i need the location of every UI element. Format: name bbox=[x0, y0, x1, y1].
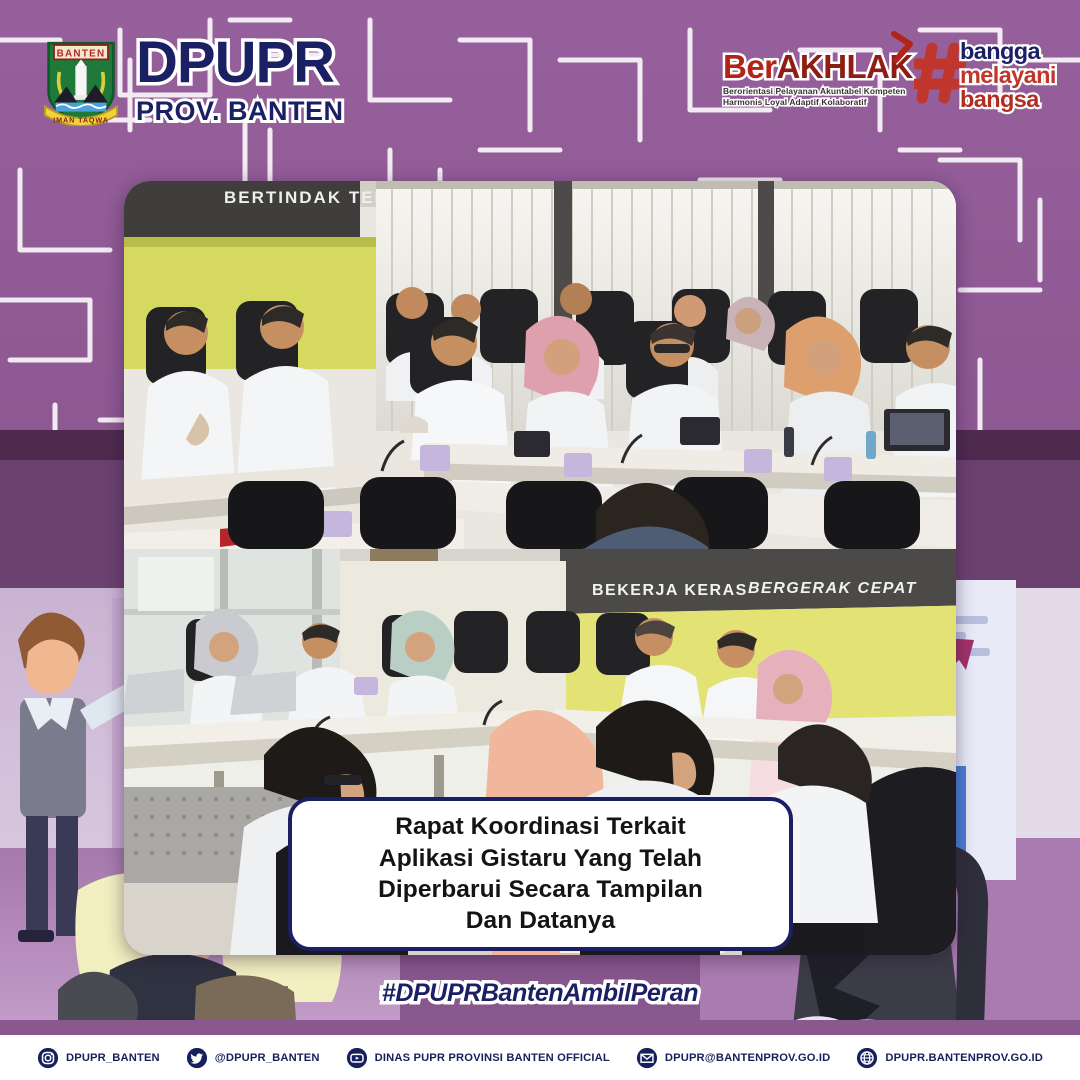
berakhlak-prefix: Ber bbox=[723, 48, 777, 85]
footer-item-instagram[interactable]: DPUPR_BANTEN bbox=[37, 1047, 160, 1069]
footer-item-email[interactable]: DPUPR@BANTENPROV.GO.ID bbox=[636, 1047, 830, 1069]
footer-contact-bar: DPUPR_BANTEN @DPUPR_BANTEN DINAS PUPR PR… bbox=[0, 1035, 1080, 1080]
footer-item-youtube[interactable]: DINAS PUPR PROVINSI BANTEN OFFICIAL bbox=[346, 1047, 610, 1069]
wall-sign-bottom-right: BERGERAK CEPAT bbox=[748, 580, 917, 597]
footer-label-email: DPUPR@BANTENPROV.GO.ID bbox=[665, 1052, 830, 1064]
bangga-line2: melayani bbox=[960, 64, 1056, 88]
footer-label-website: DPUPR.BANTENPROV.GO.ID bbox=[885, 1052, 1043, 1064]
footer-label-youtube: DINAS PUPR PROVINSI BANTEN OFFICIAL bbox=[375, 1052, 610, 1064]
footer-label-twitter: @DPUPR_BANTEN bbox=[215, 1052, 320, 1064]
bangga-text: bangga melayani bangsa bbox=[960, 40, 1056, 112]
footer-label-instagram: DPUPR_BANTEN bbox=[66, 1052, 160, 1064]
berakhlak-tagline-line1: Berorientasi Pelayanan Akuntabel Kompete… bbox=[723, 86, 908, 97]
poster-canvas: BERTINDAK TEPAT bbox=[0, 0, 1080, 1080]
meeting-photo-top: BERTINDAK TEPAT bbox=[124, 181, 956, 549]
crest-top-text: BANTEN bbox=[57, 49, 106, 60]
berakhlak-logo: BerAKHLAK Berorientasi Pelayanan Akuntab… bbox=[723, 50, 908, 108]
email-icon bbox=[636, 1047, 658, 1069]
crest-bottom-text: IMAN TAQWA bbox=[53, 115, 109, 124]
bangga-line3: bangsa bbox=[960, 88, 1056, 112]
wall-sign-bottom-left: BEKERJA KERAS bbox=[592, 582, 748, 599]
globe-icon bbox=[856, 1047, 878, 1069]
brand-wordmark: DPUPR PROV. BANTEN bbox=[136, 34, 344, 125]
caption-box: Rapat Koordinasi Terkait Aplikasi Gistar… bbox=[288, 797, 793, 951]
banten-coat-of-arms-icon: BANTEN IMAN TAQWA bbox=[36, 36, 126, 126]
berakhlak-tagline-line2: Harmonis Loyal Adaptif Kolaboratif bbox=[723, 97, 908, 108]
brand-title: DPUPR bbox=[136, 34, 344, 92]
hash-symbol-icon bbox=[914, 42, 966, 104]
twitter-icon bbox=[186, 1047, 208, 1069]
footer-item-twitter[interactable]: @DPUPR_BANTEN bbox=[186, 1047, 320, 1069]
check-tick-icon bbox=[890, 30, 914, 64]
header: BANTEN IMAN TAQWA DPUPR PROV. BANTEN bbox=[0, 0, 1080, 160]
bangga-line1: bangga bbox=[960, 40, 1056, 64]
berakhlak-wordmark: BerAKHLAK bbox=[723, 50, 908, 83]
instagram-icon bbox=[37, 1047, 59, 1069]
berakhlak-tagline: Berorientasi Pelayanan Akuntabel Kompete… bbox=[723, 86, 908, 108]
hashtag-text: #DPUPRBantenAmbilPeran bbox=[0, 979, 1080, 1008]
brand-subtitle: PROV. BANTEN bbox=[136, 98, 344, 125]
youtube-icon bbox=[346, 1047, 368, 1069]
caption-text: Rapat Koordinasi Terkait Aplikasi Gistar… bbox=[364, 811, 717, 936]
footer-item-website[interactable]: DPUPR.BANTENPROV.GO.ID bbox=[856, 1047, 1043, 1069]
